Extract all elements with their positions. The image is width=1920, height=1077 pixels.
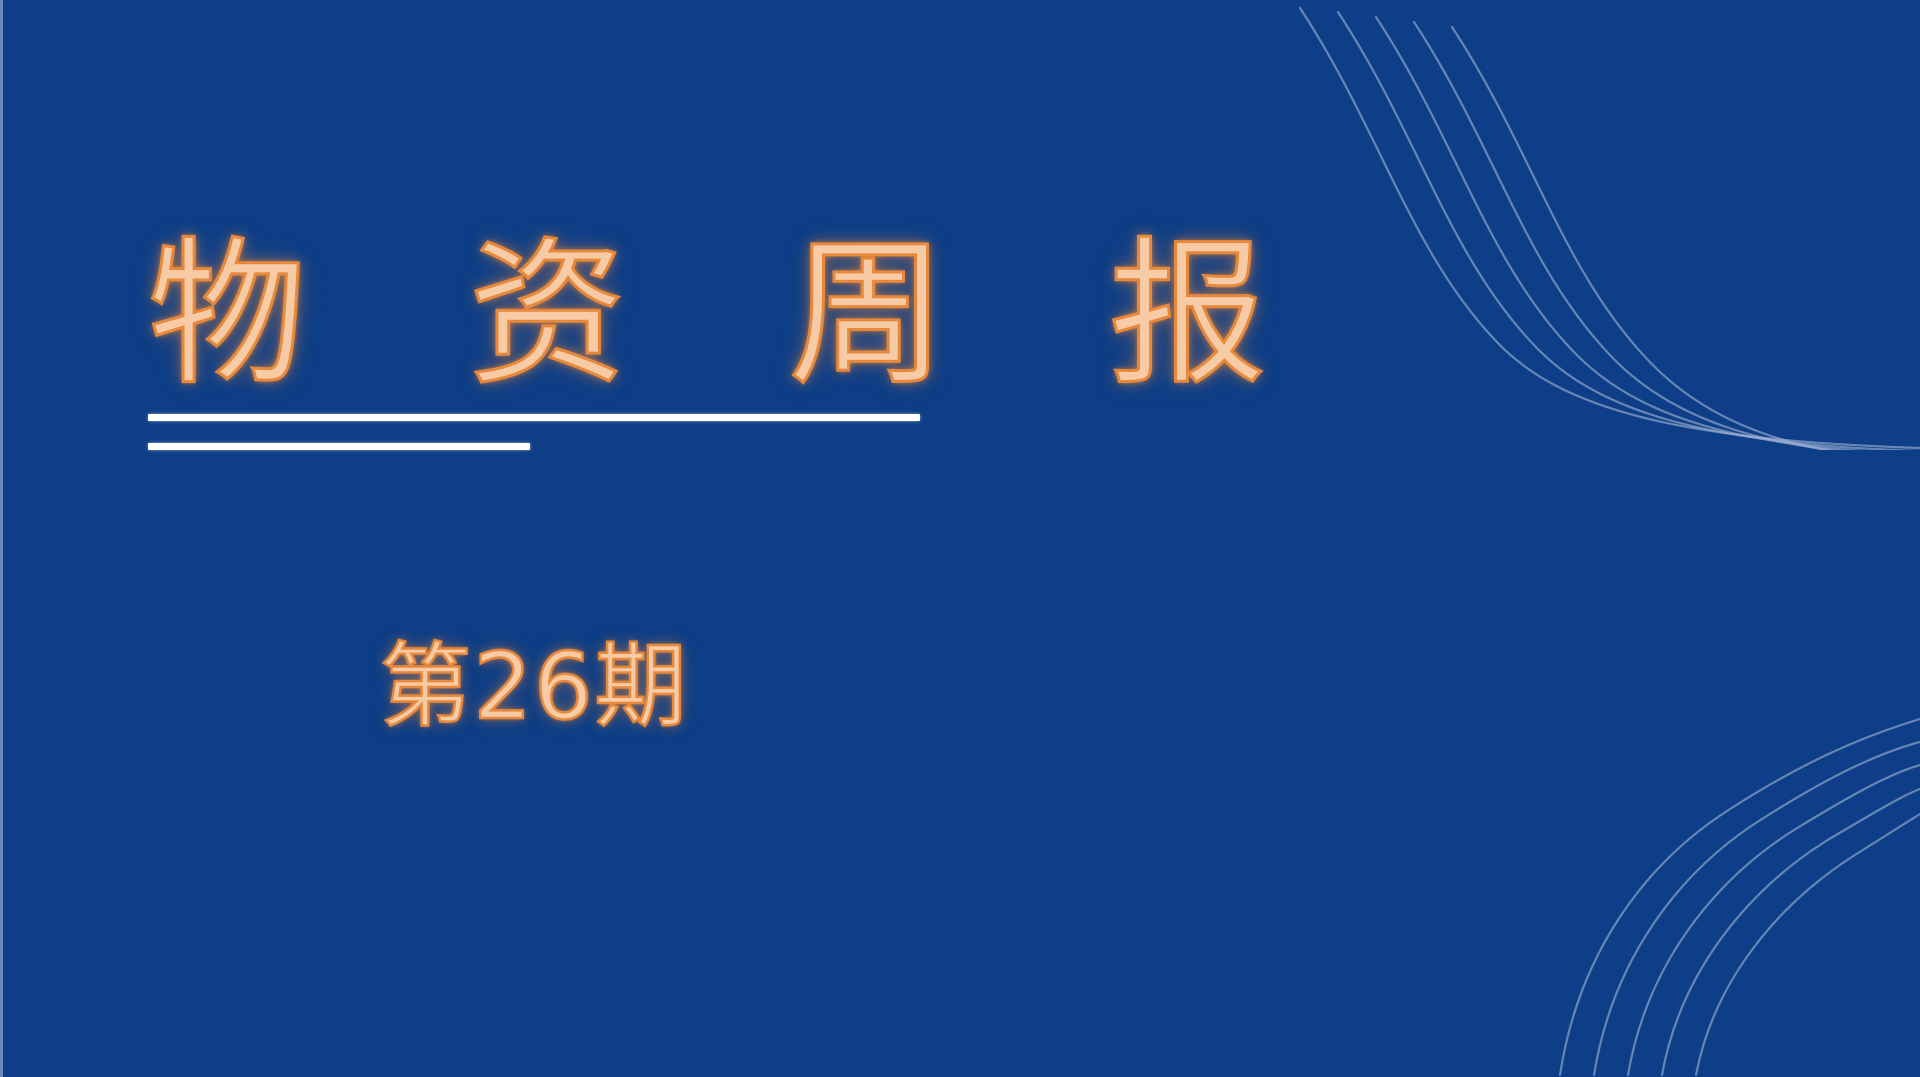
issue-subtitle: 第26期: [148, 636, 920, 737]
page-title: 物 资 周 报: [148, 236, 1148, 394]
title-underline-long: [148, 414, 920, 421]
title-underline-short: [148, 443, 530, 450]
wave-lines-top-right-icon: [1260, 0, 1920, 450]
left-edge-sliver: [0, 0, 3, 1077]
title-rule-group: [148, 414, 1148, 450]
cover-slide: 物 资 周 报 第26期: [0, 0, 1920, 1077]
wave-lines-bottom-right-icon: [1260, 597, 1920, 1077]
title-block: 物 资 周 报: [148, 236, 1148, 450]
